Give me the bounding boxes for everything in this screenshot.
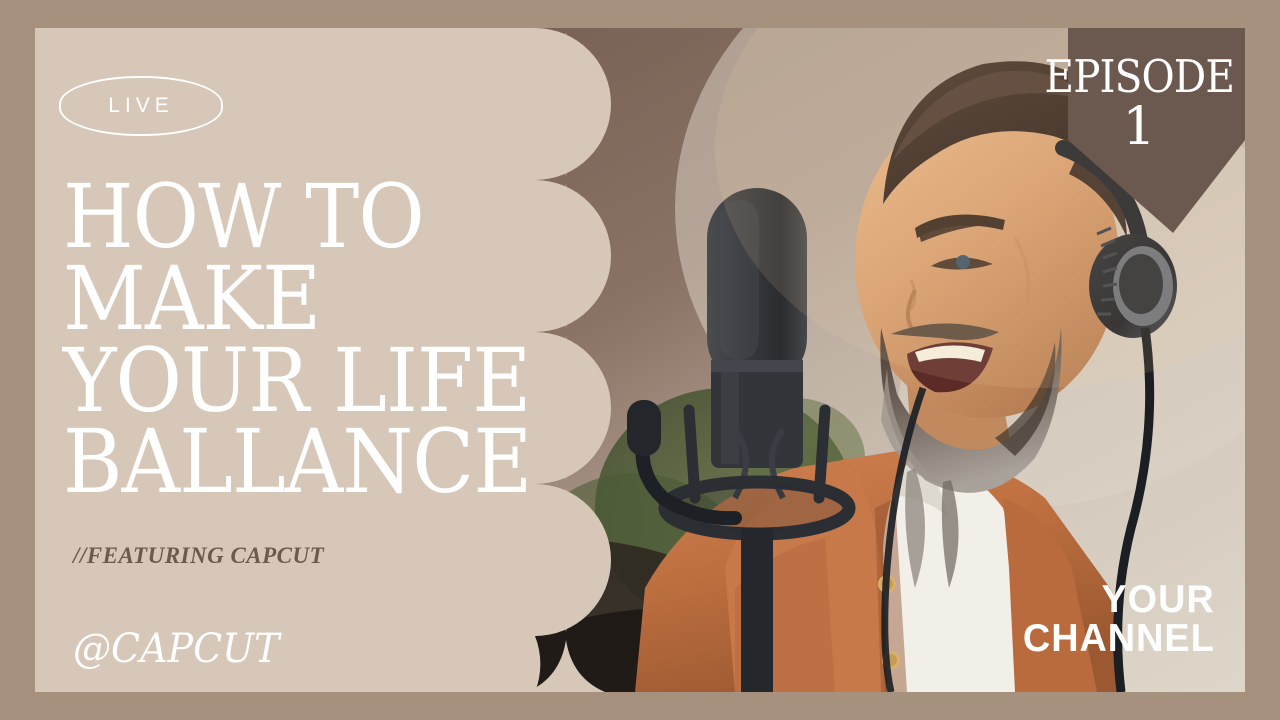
text-layer: LIVE HOW TO MAKE YOUR LIFE BALLANCE //FE… [35,28,1245,692]
channel-line-1: YOUR [1023,580,1215,619]
channel-line-2: CHANNEL [1023,619,1215,658]
live-badge: LIVE [59,76,223,136]
episode-badge: EPISODE 1 [1033,28,1245,233]
episode-number: 1 [1122,101,1155,154]
social-handle: @CAPCUT [73,626,280,672]
title-line-1: HOW TO [63,176,495,258]
channel-name: YOUR CHANNEL [1023,580,1215,658]
title-line-2: MAKE [63,258,495,340]
live-badge-label: LIVE [108,94,174,118]
title-line-3: YOUR LIFE [63,340,495,422]
featuring-credit: //FEATURING CAPCUT [73,543,324,569]
episode-label: EPISODE [1044,54,1234,99]
title-line-4: BALLANCE [63,421,495,503]
inner-artboard: LIVE HOW TO MAKE YOUR LIFE BALLANCE //FE… [35,28,1245,692]
thumbnail-canvas: LIVE HOW TO MAKE YOUR LIFE BALLANCE //FE… [0,0,1280,720]
main-title: HOW TO MAKE YOUR LIFE BALLANCE [63,176,495,503]
